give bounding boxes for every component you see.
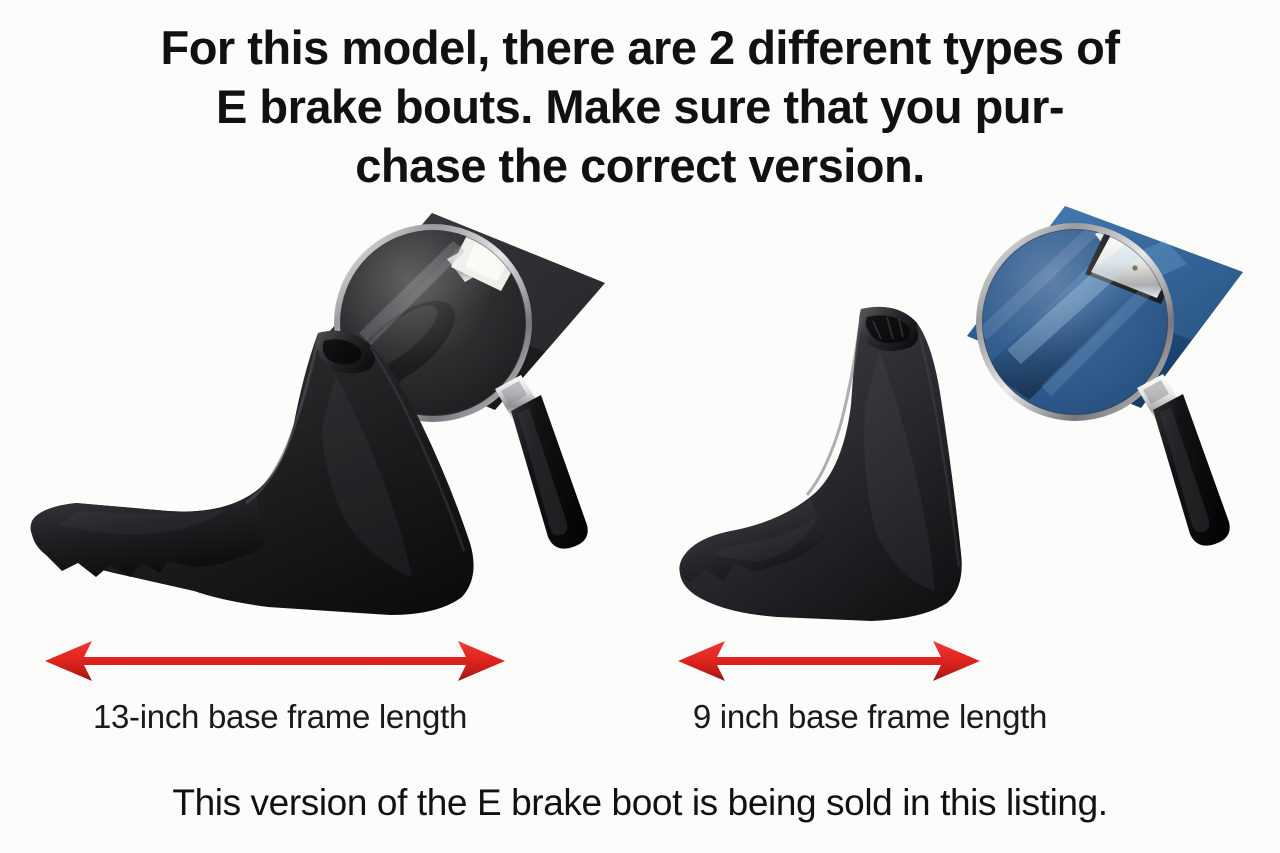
caption-13-inch: 13-inch base frame length — [0, 698, 560, 736]
headline-line-3: chase the correct version. — [0, 136, 1280, 195]
magnifier-handle-right — [1153, 394, 1230, 546]
headline-line-1: For this model, there are 2 different ty… — [0, 18, 1280, 77]
caption-9-inch: 9 inch base frame length — [660, 698, 1080, 736]
dimension-arrow-13-inch — [40, 637, 540, 685]
dimension-arrow-9-inch — [673, 637, 1013, 685]
page-title: For this model, there are 2 different ty… — [0, 18, 1280, 195]
infographic-canvas: For this model, there are 2 different ty… — [0, 0, 1280, 853]
ebrake-boot-13-inch — [18, 315, 538, 645]
product-right-9-inch — [645, 200, 1280, 645]
headline-line-2: E brake bouts. Make sure that you pur- — [0, 77, 1280, 136]
ebrake-boot-9-inch — [665, 295, 985, 650]
magnifier-inset-right — [955, 200, 1255, 565]
listing-note: This version of the E brake boot is bein… — [0, 782, 1280, 824]
product-left-13-inch — [0, 205, 620, 645]
